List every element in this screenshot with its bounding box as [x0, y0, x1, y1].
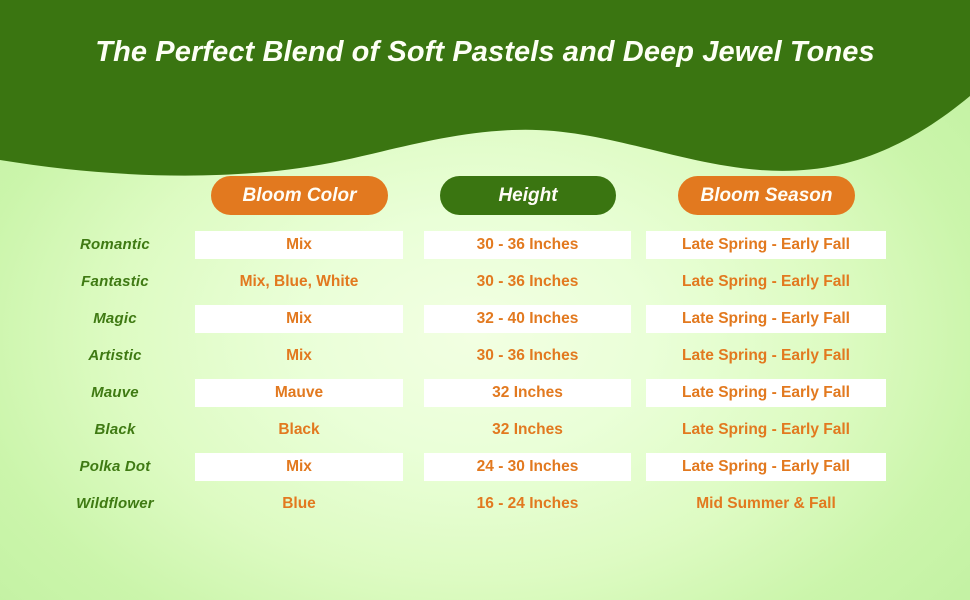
column-header-bloom-season[interactable]: Bloom Season — [678, 176, 855, 215]
column-header-bloom-color[interactable]: Bloom Color — [211, 176, 388, 215]
table-row: Magic Mix 32 - 40 Inches Late Spring - E… — [0, 305, 970, 342]
table-row: Black Black 32 Inches Late Spring - Earl… — [0, 416, 970, 453]
cell-bloom-color: Mix — [195, 342, 403, 370]
cell-bloom-color: Mix, Blue, White — [195, 268, 403, 296]
infographic-root: The Perfect Blend of Soft Pastels and De… — [0, 0, 970, 600]
cell-bloom-color: Blue — [195, 490, 403, 518]
cell-height: 32 - 40 Inches — [424, 305, 631, 333]
page-title: The Perfect Blend of Soft Pastels and De… — [0, 36, 970, 69]
cell-bloom-season: Late Spring - Early Fall — [646, 305, 886, 333]
cell-height: 32 Inches — [424, 416, 631, 444]
cell-bloom-season: Late Spring - Early Fall — [646, 231, 886, 259]
cell-bloom-color: Mix — [195, 231, 403, 259]
cell-bloom-season: Late Spring - Early Fall — [646, 379, 886, 407]
cell-bloom-color: Mix — [195, 305, 403, 333]
row-label: Wildflower — [35, 490, 195, 518]
comparison-table: Romantic Mix 30 - 36 Inches Late Spring … — [0, 231, 970, 527]
table-row: Romantic Mix 30 - 36 Inches Late Spring … — [0, 231, 970, 268]
column-header-pills: Bloom Color Height Bloom Season — [0, 176, 970, 216]
cell-bloom-season: Late Spring - Early Fall — [646, 268, 886, 296]
cell-bloom-color: Mauve — [195, 379, 403, 407]
cell-bloom-season: Late Spring - Early Fall — [646, 416, 886, 444]
cell-height: 24 - 30 Inches — [424, 453, 631, 481]
cell-height: 30 - 36 Inches — [424, 268, 631, 296]
cell-height: 16 - 24 Inches — [424, 490, 631, 518]
cell-height: 30 - 36 Inches — [424, 231, 631, 259]
row-label: Magic — [35, 305, 195, 333]
table-row: Mauve Mauve 32 Inches Late Spring - Earl… — [0, 379, 970, 416]
cell-bloom-season: Late Spring - Early Fall — [646, 342, 886, 370]
table-row: Polka Dot Mix 24 - 30 Inches Late Spring… — [0, 453, 970, 490]
table-row: Artistic Mix 30 - 36 Inches Late Spring … — [0, 342, 970, 379]
row-label: Black — [35, 416, 195, 444]
cell-height: 30 - 36 Inches — [424, 342, 631, 370]
row-label: Artistic — [35, 342, 195, 370]
cell-bloom-color: Mix — [195, 453, 403, 481]
table-row: Fantastic Mix, Blue, White 30 - 36 Inche… — [0, 268, 970, 305]
cell-bloom-season: Mid Summer & Fall — [646, 490, 886, 518]
cell-height: 32 Inches — [424, 379, 631, 407]
column-header-height[interactable]: Height — [440, 176, 616, 215]
row-label: Polka Dot — [35, 453, 195, 481]
row-label: Fantastic — [35, 268, 195, 296]
row-label: Mauve — [35, 379, 195, 407]
cell-bloom-color: Black — [195, 416, 403, 444]
row-label: Romantic — [35, 231, 195, 259]
cell-bloom-season: Late Spring - Early Fall — [646, 453, 886, 481]
table-row: Wildflower Blue 16 - 24 Inches Mid Summe… — [0, 490, 970, 527]
